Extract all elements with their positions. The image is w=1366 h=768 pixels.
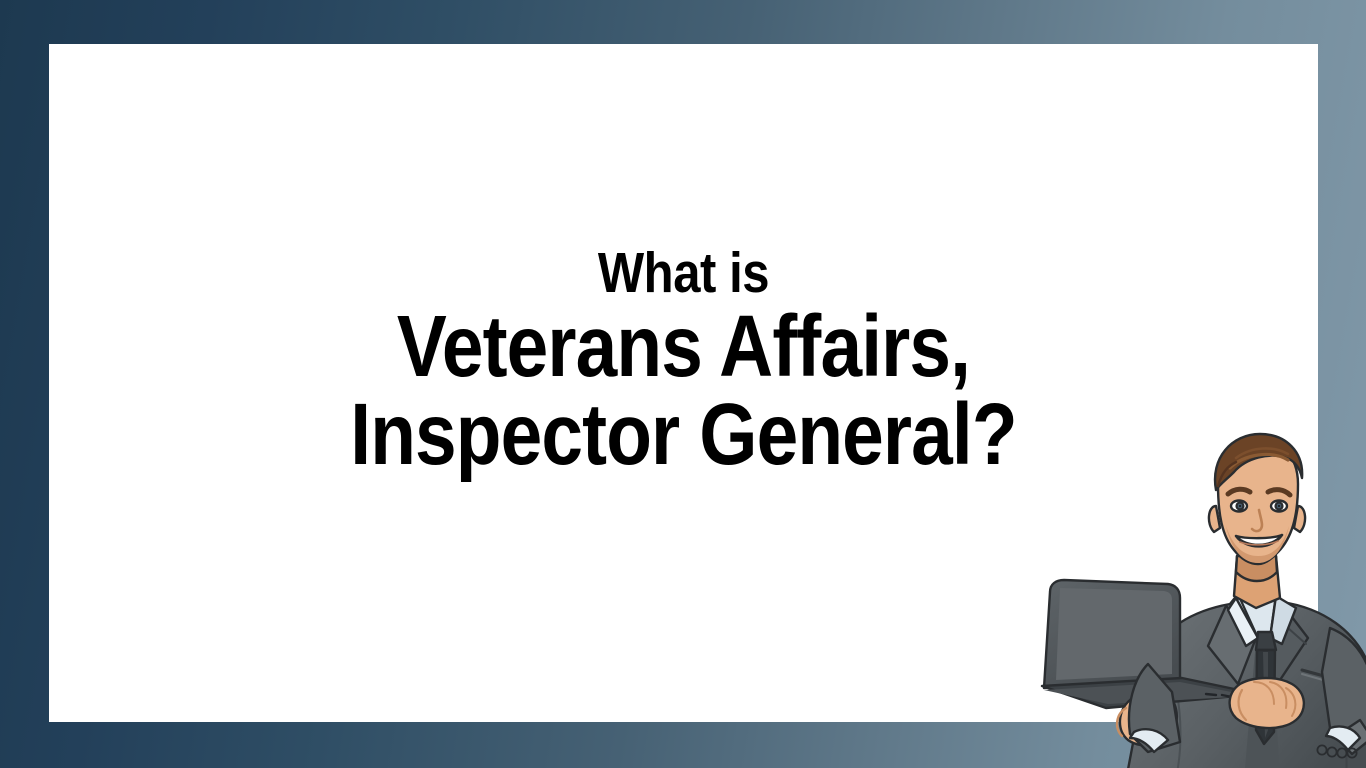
slide-headline-line-1: Veterans Affairs, — [138, 303, 1229, 392]
presenter-illustration — [1030, 432, 1366, 768]
slide-kicker: What is — [138, 244, 1229, 303]
head — [1209, 434, 1305, 564]
slide-root: What is Veterans Affairs, Inspector Gene… — [0, 0, 1366, 768]
right-hand — [1230, 678, 1304, 728]
